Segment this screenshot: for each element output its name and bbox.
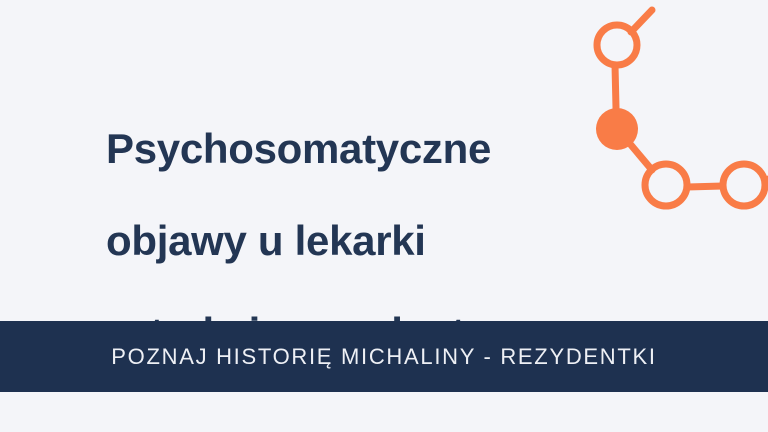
slide-canvas: Psychosomatyczne objawy u lekarki w trak… bbox=[0, 0, 768, 432]
node-ring-1 bbox=[597, 25, 637, 65]
headline-line-1: Psychosomatyczne bbox=[106, 126, 626, 172]
cta-banner-label: POZNAJ HISTORIĘ MICHALINY - REZYDENTKI bbox=[111, 344, 656, 370]
node-edge-2-3 bbox=[631, 145, 652, 170]
headline-line-2: objawy u lekarki bbox=[106, 218, 626, 264]
node-edge-top-out bbox=[631, 10, 652, 32]
node-edge-3-4 bbox=[687, 186, 723, 187]
node-ring-3 bbox=[645, 164, 687, 206]
node-ring-4 bbox=[723, 164, 765, 206]
cta-banner: POZNAJ HISTORIĘ MICHALINY - REZYDENTKI bbox=[0, 321, 768, 392]
